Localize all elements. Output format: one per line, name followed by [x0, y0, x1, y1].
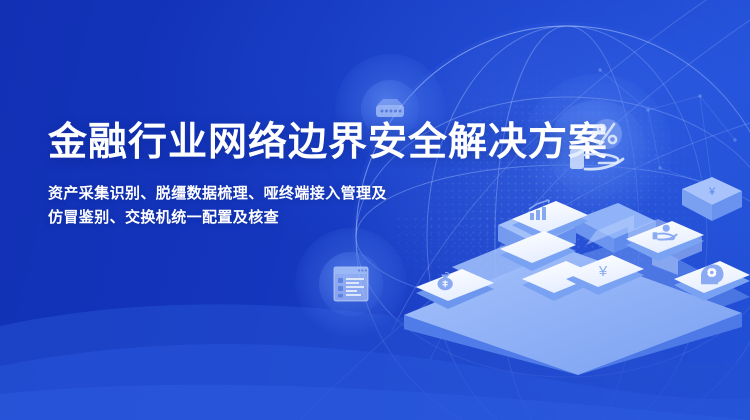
hand-percent-icon: [555, 107, 639, 191]
page-title: 金融行业网络边界安全解决方案: [48, 120, 518, 166]
document-list-icon: [326, 259, 376, 309]
server-icon: [367, 86, 413, 132]
yen-icon: ¥: [598, 263, 608, 280]
svg-text:¥: ¥: [708, 186, 716, 198]
subtitle: 资产采集识别、脱缰数据梳理、哑终端接入管理及 仿冒鉴别、交换机统一配置及核查: [48, 182, 518, 230]
banner-root: ¥: [0, 0, 750, 420]
subtitle-line-2: 仿冒鉴别、交换机统一配置及核查: [48, 206, 518, 230]
platform-base: [404, 237, 750, 375]
text-block: 金融行业网络边界安全解决方案 资产采集识别、脱缰数据梳理、哑终端接入管理及 仿冒…: [48, 120, 518, 230]
subtitle-line-1: 资产采集识别、脱缰数据梳理、哑终端接入管理及: [48, 182, 518, 206]
